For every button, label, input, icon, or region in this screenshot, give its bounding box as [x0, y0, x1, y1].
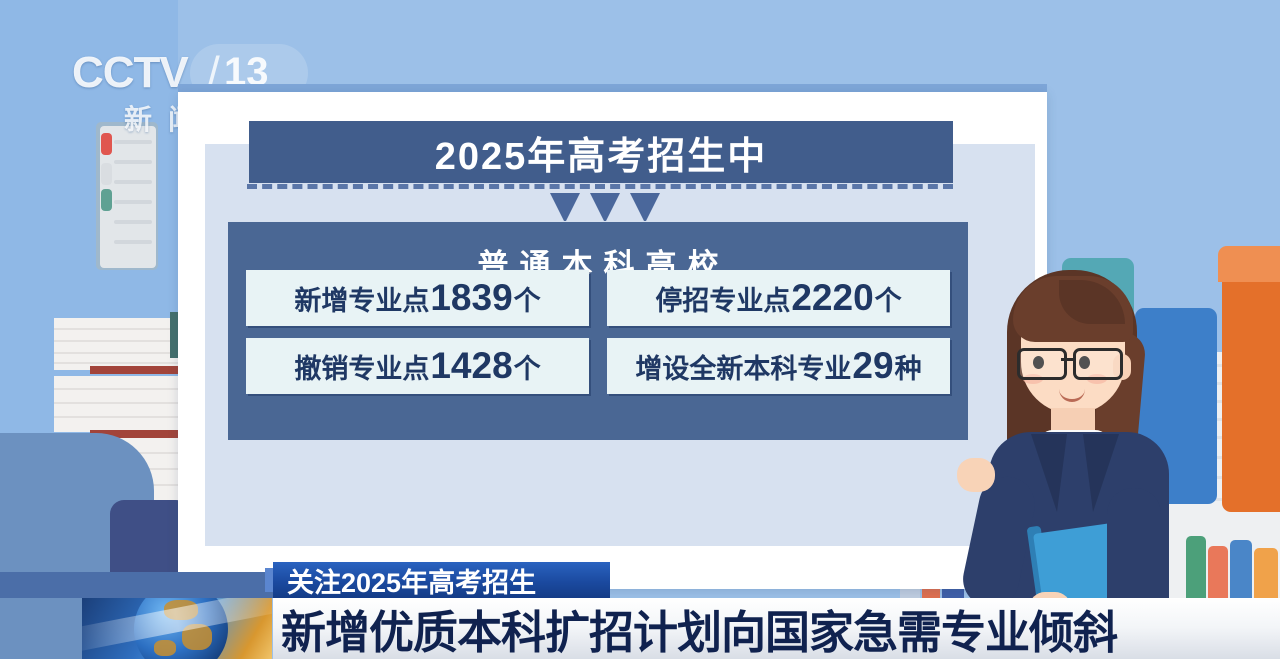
stat-unit: 个 — [875, 279, 902, 318]
statistics-grid: 新增专业点 1839 个 停招专业点 2220 个 撤销专业点 1428 个 增… — [246, 270, 950, 394]
cabinet-shelf-line — [114, 220, 152, 224]
stat-card-suspended-majors: 停招专业点 2220 个 — [607, 270, 950, 326]
presenter-lapel — [1031, 434, 1067, 512]
presenter-glasses-icon — [1017, 348, 1129, 374]
book-band-red — [90, 366, 182, 374]
cabinet-shelf-line — [114, 180, 152, 184]
cabinet-tab-red — [101, 133, 112, 155]
presenter-hand-left — [957, 458, 995, 492]
stat-unit: 种 — [895, 347, 922, 386]
infographic-title: 2025年高考招生中 — [435, 125, 768, 180]
broadcast-screen: CCTV / 13 新闻 2025年高考招生中 普通本科高校 新增专业点 183… — [0, 0, 1280, 659]
shelf-box-orange-top — [1218, 246, 1280, 282]
headline-text: 新增优质本科扩招计划向国家急需专业倾斜 — [281, 596, 1117, 659]
stat-value: 2220 — [791, 277, 873, 319]
stat-card-new-majors: 新增专业点 1839 个 — [246, 270, 589, 326]
stat-unit: 个 — [514, 347, 541, 386]
divider-dashed-line — [247, 184, 953, 189]
stat-value: 29 — [852, 345, 893, 387]
statistics-block: 普通本科高校 新增专业点 1839 个 停招专业点 2220 个 撤销专业点 1… — [228, 222, 968, 440]
triangle-down-icon — [590, 193, 620, 221]
stat-label: 增设全新本科专业 — [635, 347, 851, 386]
triangle-down-icon — [630, 193, 660, 221]
stat-value: 1839 — [430, 277, 512, 319]
stat-label: 撤销专业点 — [294, 347, 429, 386]
cabinet-shelf-line — [114, 140, 152, 144]
stat-card-cancelled-majors: 撤销专业点 1428 个 — [246, 338, 589, 394]
lower-third-left-strip — [0, 572, 273, 598]
cabinet-shelf-line — [114, 200, 152, 204]
triangle-down-icon — [550, 193, 580, 221]
stat-unit: 个 — [514, 279, 541, 318]
logo-cctv-text: CCTV — [72, 48, 188, 98]
headline-banner: 新增优质本科扩招计划向国家急需专业倾斜 — [273, 598, 1280, 659]
stat-label: 停招专业点 — [655, 279, 790, 318]
infographic-title-bar: 2025年高考招生中 — [249, 121, 953, 183]
globe-graphic — [82, 598, 272, 659]
stat-card-brand-new-majors: 增设全新本科专业 29 种 — [607, 338, 950, 394]
arrow-triangles-group — [550, 193, 660, 225]
cabinet-tab-green — [101, 189, 112, 211]
cabinet-tab-grey — [101, 163, 112, 185]
topic-banner: 关注2025年高考招生 — [273, 562, 610, 598]
stat-value: 1428 — [430, 345, 512, 387]
shelf-box-orange — [1222, 250, 1280, 512]
book-stack-upper — [54, 318, 178, 370]
stat-label: 新增专业点 — [294, 279, 429, 318]
book-stack-mid — [54, 376, 178, 432]
topic-banner-text: 关注2025年高考招生 — [287, 561, 536, 600]
cabinet-shelf-line — [114, 240, 152, 244]
cabinet-shelf-line — [114, 160, 152, 164]
